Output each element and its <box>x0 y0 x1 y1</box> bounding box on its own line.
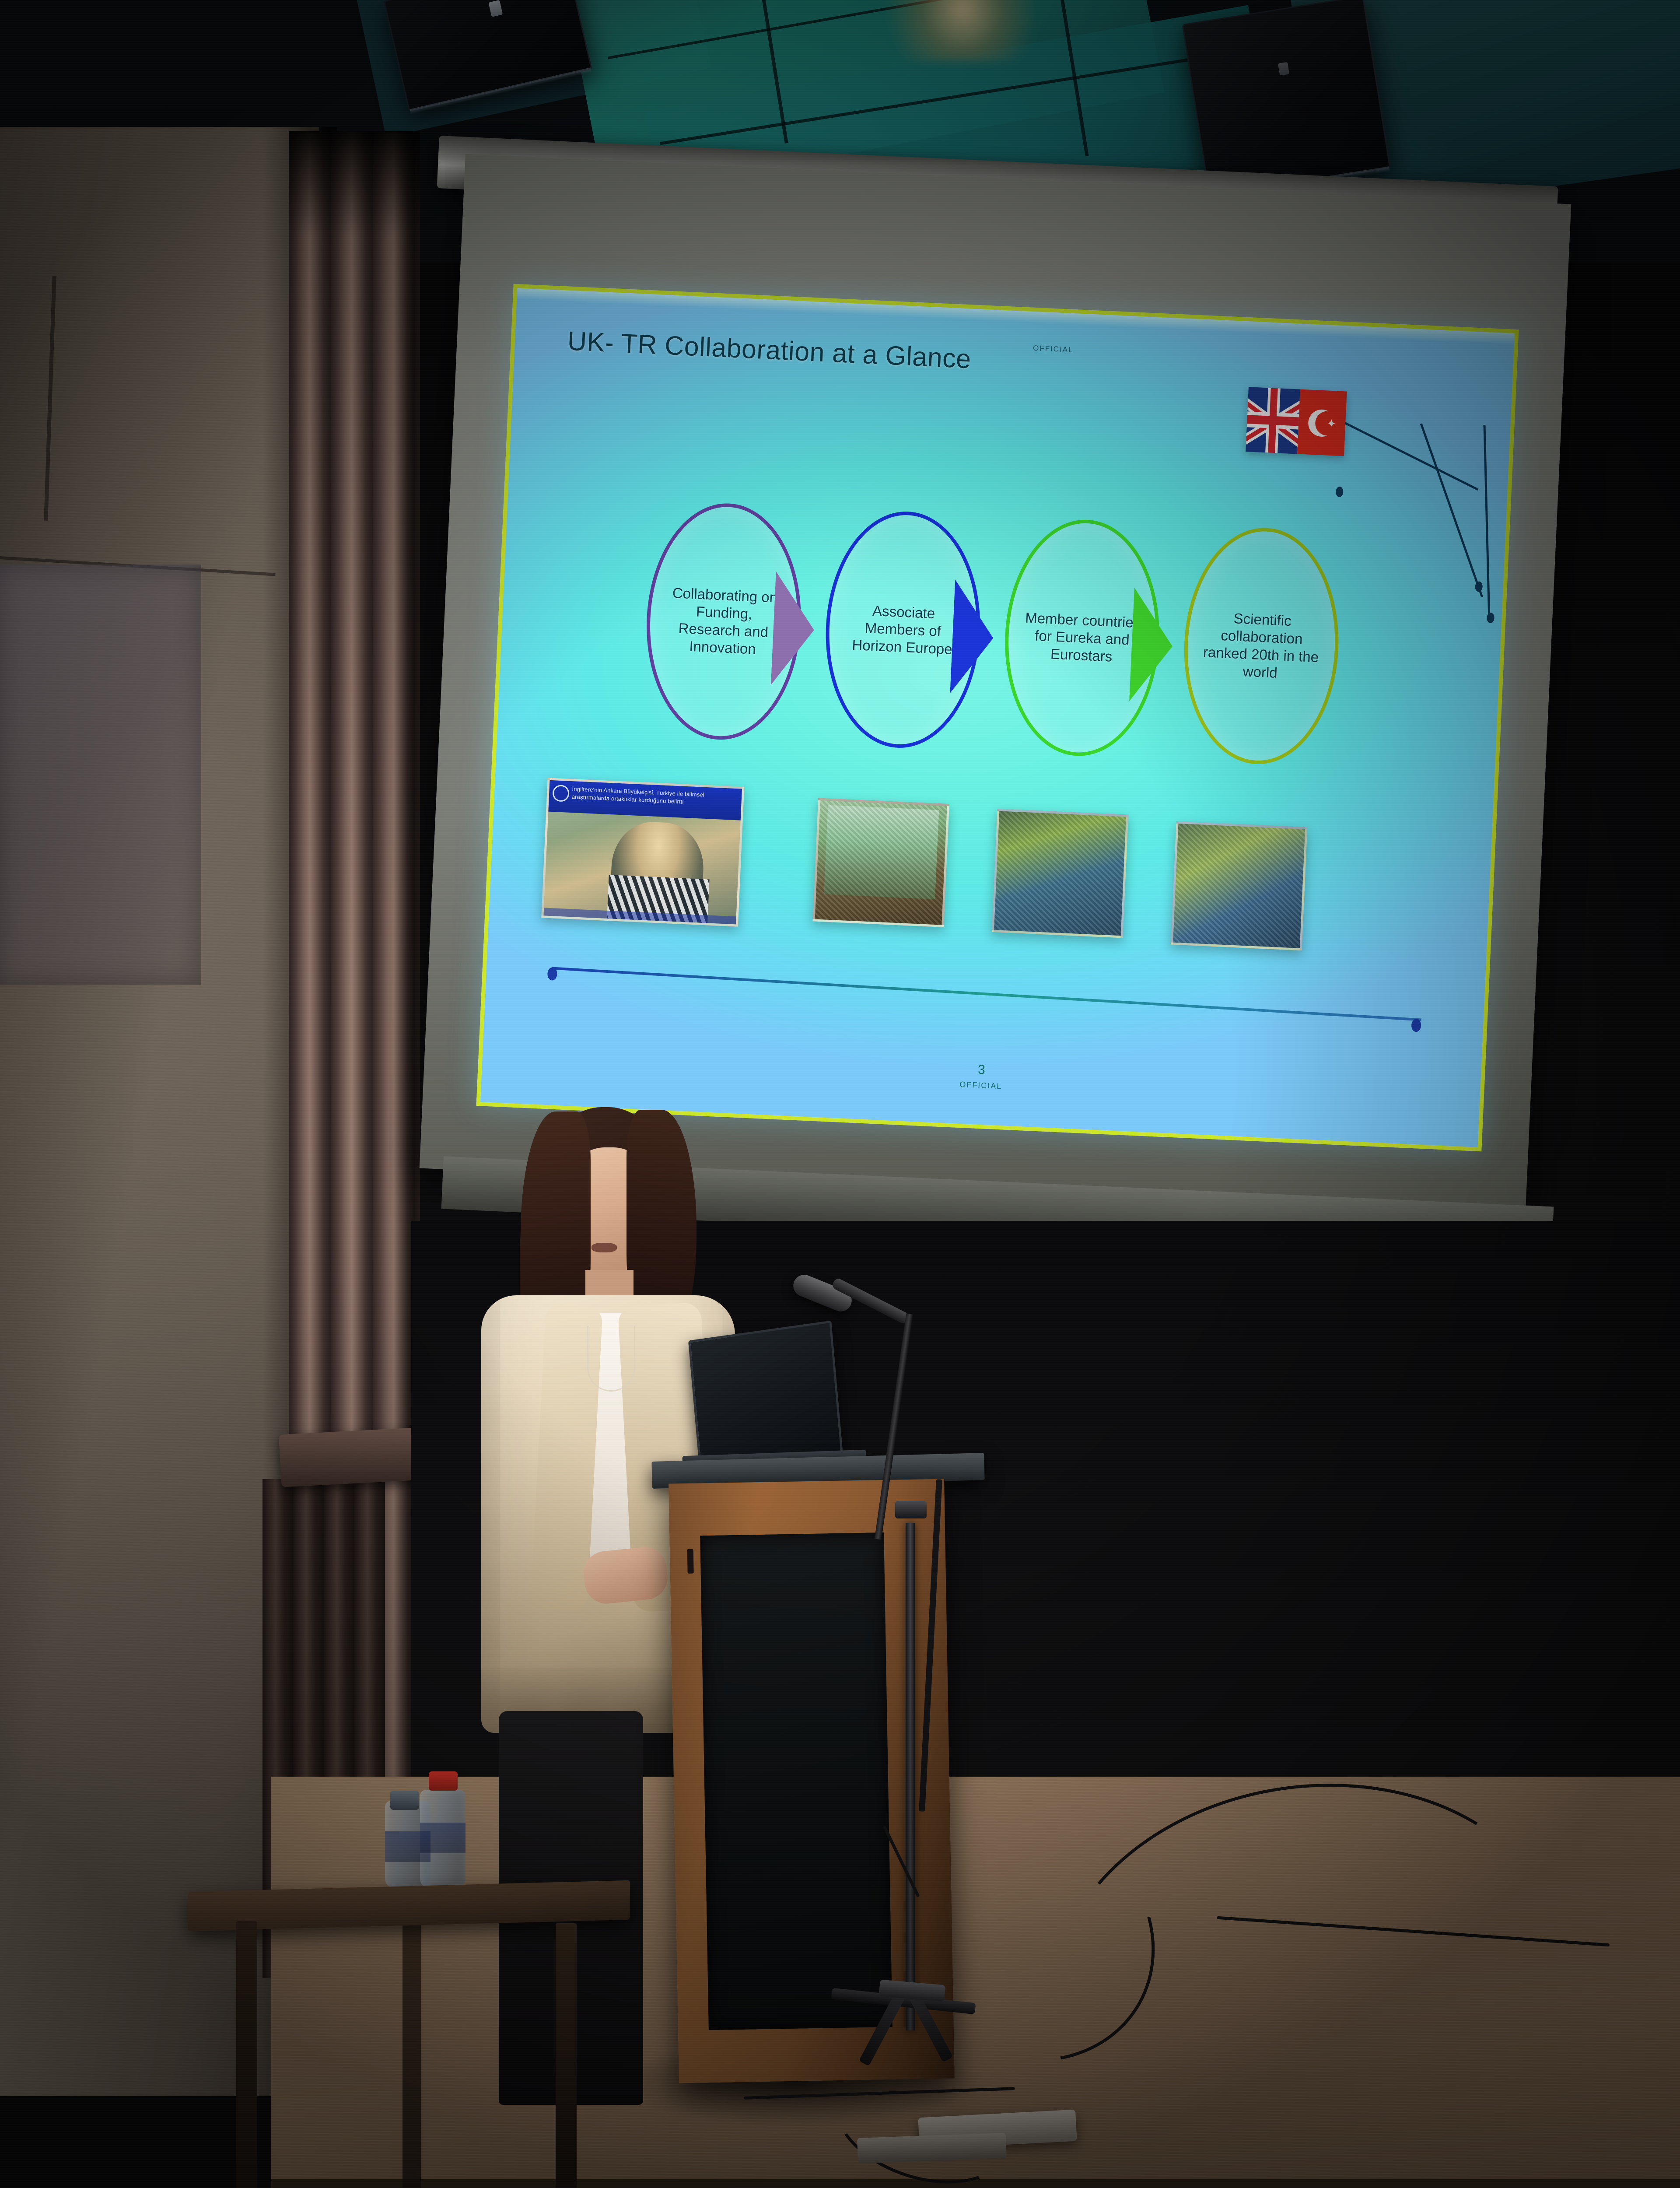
broadcaster-logo-icon <box>552 785 570 802</box>
photo-texture <box>815 800 947 925</box>
side-table-leg <box>402 1923 421 2188</box>
side-table-leg <box>556 1923 577 2188</box>
speaker-badge-icon <box>488 0 503 17</box>
bottle-cap-grey <box>390 1791 419 1810</box>
presenter-necklace <box>587 1326 635 1392</box>
slide-photo-panel-stage <box>812 798 949 927</box>
flow-diagram: Collaborating on Funding, Research and I… <box>523 494 1487 782</box>
slide-photo-news-interview: İngiltere'nin Ankara Büyükelçisi, Türkiy… <box>541 778 744 926</box>
turkey-flag-icon: ✦ <box>1297 389 1347 456</box>
slide-photo-audience-event <box>992 809 1128 938</box>
photo-caption-banner: İngiltere'nin Ankara Büyükelçisi, Türkiy… <box>548 780 742 820</box>
slide-photo-networking <box>1171 821 1307 950</box>
presenter-mouth <box>591 1243 617 1252</box>
flow-step-4: Scientific collaboration ranked 20th in … <box>1179 524 1344 767</box>
wall-crack <box>44 276 56 521</box>
photo-texture <box>994 811 1126 936</box>
presenter-hands <box>581 1545 670 1606</box>
flow-step-4-label: Scientific collaboration ranked 20th in … <box>1186 607 1337 684</box>
photo-caption-text: İngiltere'nin Ankara Büyükelçisi, Türkiy… <box>571 785 704 805</box>
photo-texture <box>1173 824 1305 948</box>
lectern-latch <box>687 1549 694 1574</box>
ceiling-light-glow <box>888 0 1037 61</box>
bottle-cap-red <box>429 1771 458 1791</box>
speaker-badge-icon <box>1278 62 1289 76</box>
power-strip <box>857 2133 1007 2163</box>
curtain-tieback <box>279 1427 426 1487</box>
uk-flag-icon <box>1246 387 1300 454</box>
projected-slide: UK- TR Collaboration at a Glance OFFICIA… <box>476 284 1519 1151</box>
wall-panel-banner <box>0 565 201 985</box>
stage-floor-edge <box>271 2179 1680 2188</box>
flag-pair: ✦ <box>1246 387 1347 456</box>
microphone-clamp <box>895 1501 927 1518</box>
conference-hall-scene: UK- TR Collaboration at a Glance OFFICIA… <box>0 0 1680 2188</box>
ceiling-speaker-right <box>1182 0 1390 197</box>
side-table-leg <box>236 1921 257 2188</box>
curtain-top-shadow <box>289 131 420 236</box>
lectern-front-panel <box>700 1532 892 2030</box>
bottle-label <box>420 1823 465 1853</box>
